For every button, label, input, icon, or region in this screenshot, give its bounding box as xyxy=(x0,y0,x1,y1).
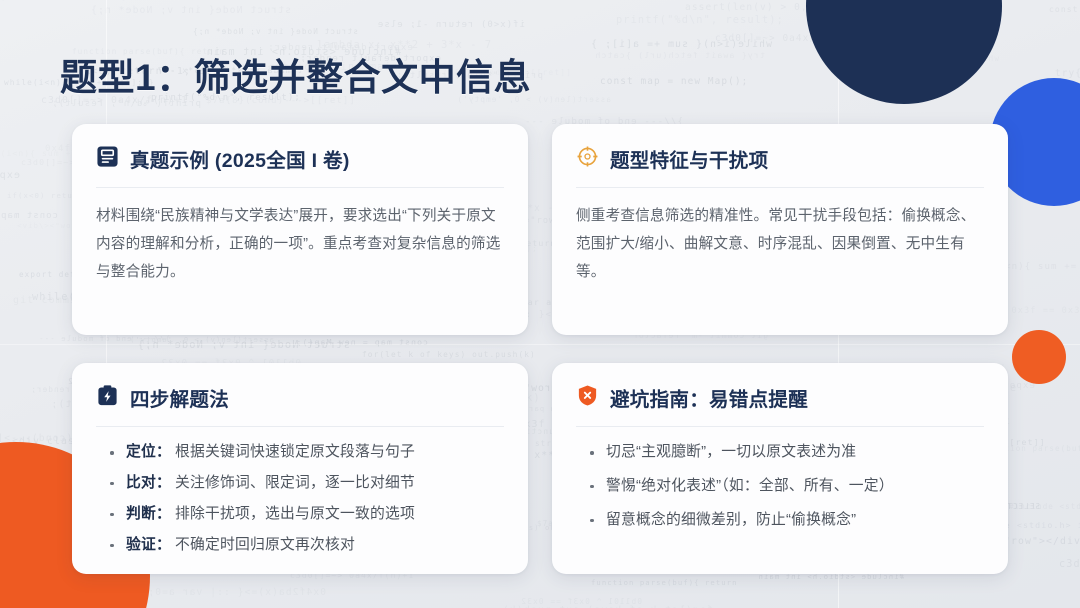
step-item: 比对：关注修饰词、限定词，逐一比对细节 xyxy=(110,472,504,496)
background-code-line: try{ await fetch(url) }catch xyxy=(0,0,160,2)
card-title: 真题示例 (2025全国 I 卷) xyxy=(130,144,350,173)
background-code-line: while(i<n){ sum += a[i]; } xyxy=(590,39,772,50)
card-body-text: 材料围绕“民族精神与文学表达”展开，要求选出“下列关于原文内容的理解和分析，正确… xyxy=(96,202,504,286)
decor-circle-orange-small xyxy=(1012,330,1066,384)
card-divider xyxy=(576,187,984,188)
background-code-line: function parse(buf){ return xyxy=(591,578,738,587)
card-title: 四步解题法 xyxy=(130,383,229,412)
card-header: 四步解题法 xyxy=(96,383,504,426)
step-text: 不确定时回归原文再次核对 xyxy=(175,537,355,553)
pitfall-list: 切忌“主观臆断”，一切以原文表述为准警惕“绝对化表述”（如：全部、所有、一定）留… xyxy=(576,441,984,533)
background-code-line: c3d0[]=~> 0a4x/f(n)+1 xyxy=(1059,559,1080,570)
background-code-line: const map = new Map(); xyxy=(0,211,58,221)
card-title: 避坑指南：易错点提醒 xyxy=(610,383,808,412)
card-divider xyxy=(96,187,504,188)
pitfall-item: 切忌“主观臆断”，一切以原文表述为准 xyxy=(590,441,984,465)
background-code-line: const map = new Map(); xyxy=(600,76,748,87)
card-divider xyxy=(576,426,984,427)
clipboard-bolt-icon xyxy=(96,384,119,412)
background-code-line: try{ await fetch(url) }catch xyxy=(594,50,765,60)
shield-x-icon xyxy=(576,384,599,412)
card-header: 避坑指南：易错点提醒 xyxy=(576,383,984,426)
card-question-traits[interactable]: 题型特征与干扰项 侧重考查信息筛选的精准性。常见干扰手段包括：偷换概念、范围扩大… xyxy=(552,124,1008,335)
background-code-line: struct Node{ int v; Node* n;} xyxy=(90,5,291,16)
background-code-line: 0b1101 ^ 0x3f == 0x32 xyxy=(520,597,642,606)
background-code-line: 0x4f2ba(x)=>{ ::| var a=0; xyxy=(147,587,326,598)
pitfall-item: 警惕“绝对化表述”（如：全部、所有、一定） xyxy=(590,475,984,499)
step-list: 定位：根据关键词快速锁定原文段落与句子比对：关注修饰词、限定词，逐一比对细节判断… xyxy=(96,441,504,558)
step-item: 验证：不确定时回归原文再次核对 xyxy=(110,534,504,558)
step-text: 关注修饰词、限定词，逐一比对细节 xyxy=(175,475,415,491)
target-icon xyxy=(576,145,599,173)
step-text: 根据关键词快速锁定原文段落与句子 xyxy=(175,444,415,460)
decor-circle-navy xyxy=(806,0,1002,104)
background-code-line: const map = new Map(); xyxy=(1049,5,1080,14)
page-title: 题型1：筛选并整合文中信息 xyxy=(60,47,531,101)
step-label: 验证： xyxy=(126,537,171,553)
card-four-step-method[interactable]: 四步解题法 定位：根据关键词快速锁定原文段落与句子比对：关注修饰词、限定词，逐一… xyxy=(72,363,528,574)
background-code-line: printf("%d\n", result); xyxy=(616,14,784,26)
background-code-line: struct Node{ int v; Node* n;} xyxy=(192,27,358,36)
background-code-line: export default render; xyxy=(0,170,20,181)
step-text: 排除干扰项，选出与原文一致的选项 xyxy=(175,506,415,522)
step-label: 判断： xyxy=(126,506,171,522)
card-header: 真题示例 (2025全国 I 卷) xyxy=(96,144,504,187)
pitfall-item: 留意概念的细微差别，防止“偷换概念” xyxy=(590,509,984,533)
card-header: 题型特征与干扰项 xyxy=(576,144,984,187)
background-code-line: if(x<0) return -1; else xyxy=(377,20,525,30)
card-pitfall-guide[interactable]: 避坑指南：易错点提醒 切忌“主观臆断”，一切以原文表述为准警惕“绝对化表述”（如… xyxy=(552,363,1008,574)
card-divider xyxy=(96,426,504,427)
card-grid: 真题示例 (2025全国 I 卷) 材料围绕“民族精神与文学表达”展开，要求选出… xyxy=(72,124,1008,574)
card-real-exam-example[interactable]: 真题示例 (2025全国 I 卷) 材料围绕“民族精神与文学表达”展开，要求选出… xyxy=(72,124,528,335)
slide-root: 0x4f2ba(x)=>{ ::| var a=0;$7a{8}(cond)--… xyxy=(0,0,1080,608)
step-label: 定位： xyxy=(126,444,171,460)
card-title: 题型特征与干扰项 xyxy=(610,144,768,173)
step-item: 判断：排除干扰项，选出与原文一致的选项 xyxy=(110,503,504,527)
step-item: 定位：根据关键词快速锁定原文段落与句子 xyxy=(110,441,504,465)
step-label: 比对： xyxy=(126,475,171,491)
document-icon xyxy=(96,145,119,173)
background-code-line: #include <stdio.h> int main xyxy=(1009,502,1080,511)
card-body-text: 侧重考查信息筛选的精准性。常见干扰手段包括：偷换概念、范围扩大/缩小、曲解文意、… xyxy=(576,202,984,286)
